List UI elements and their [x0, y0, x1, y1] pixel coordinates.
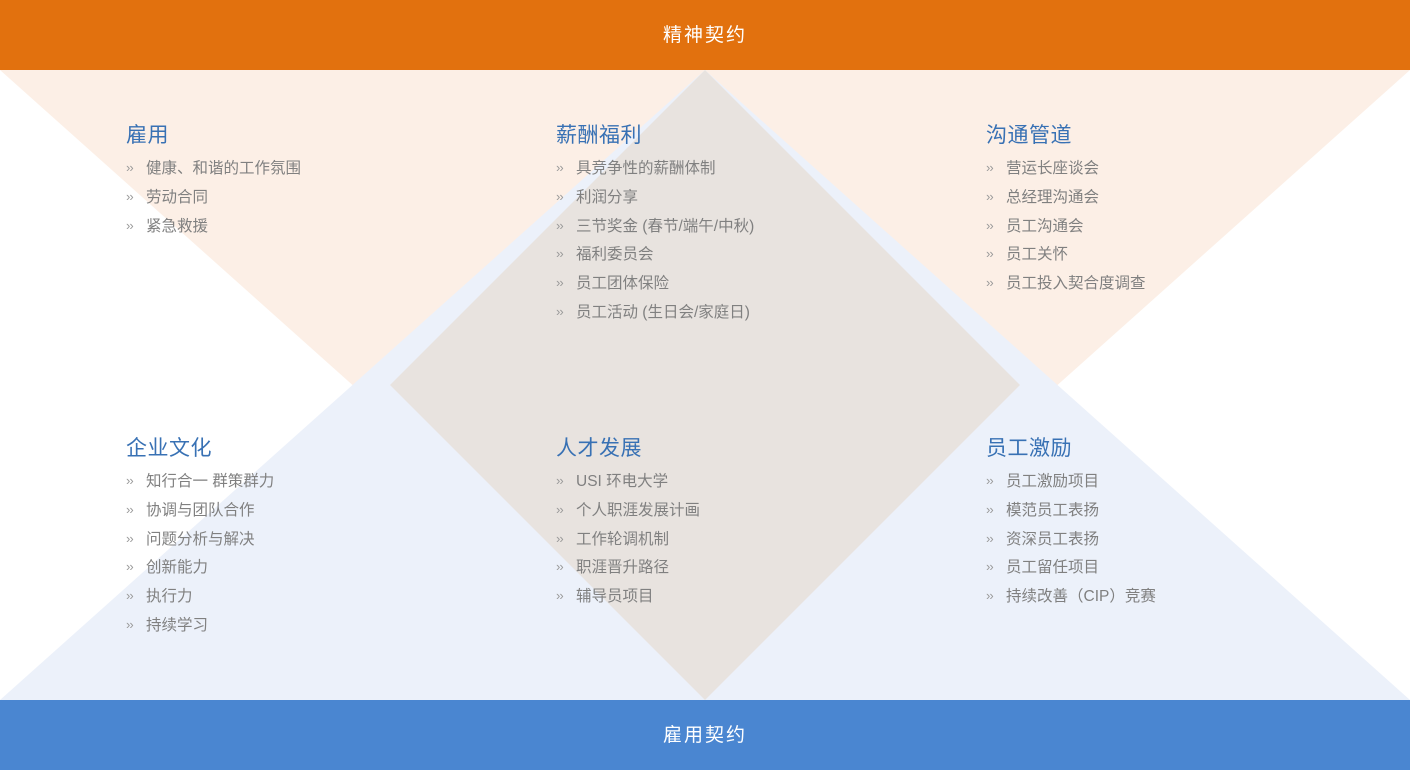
item-list-compensation-benefits: ›› 具竞争性的薪酬体制 ›› 利润分享 ›› 三节奖金 (春节/端午/中秋) …: [556, 160, 946, 322]
chevron-right-icon: ››: [556, 305, 576, 318]
list-item-label: 工作轮调机制: [576, 531, 669, 549]
list-item[interactable]: ›› 员工投入契合度调查: [986, 275, 1376, 293]
chevron-right-icon: ››: [556, 161, 576, 174]
chevron-right-icon: ››: [126, 589, 146, 602]
chevron-right-icon: ››: [986, 190, 1006, 203]
column-communication-channels: 沟通管道 ›› 营运长座谈会 ›› 总经理沟通会 ›› 员工沟通会 ›› 员工关…: [986, 125, 1376, 304]
chevron-right-icon: ››: [126, 474, 146, 487]
list-item-label: 具竞争性的薪酬体制: [576, 160, 716, 178]
list-item-label: 营运长座谈会: [1006, 160, 1099, 178]
chevron-right-icon: ››: [126, 219, 146, 232]
item-list-talent-development: ›› USI 环电大学 ›› 个人职涯发展计画 ›› 工作轮调机制 ›› 职涯晋…: [556, 473, 946, 606]
list-item[interactable]: ›› 具竞争性的薪酬体制: [556, 160, 946, 178]
chevron-right-icon: ››: [556, 190, 576, 203]
list-item-label: 知行合一 群策群力: [146, 473, 274, 491]
column-title-employee-motivation: 员工激励: [986, 438, 1376, 459]
chevron-right-icon: ››: [986, 247, 1006, 260]
column-talent-development: 人才发展 ›› USI 环电大学 ›› 个人职涯发展计画 ›› 工作轮调机制 ›…: [556, 438, 946, 617]
list-item[interactable]: ›› 员工活动 (生日会/家庭日): [556, 304, 946, 322]
chevron-right-icon: ››: [556, 276, 576, 289]
list-item-label: 资深员工表扬: [1006, 531, 1099, 549]
list-item-label: 员工留任项目: [1006, 559, 1099, 577]
chevron-right-icon: ››: [556, 474, 576, 487]
list-item[interactable]: ›› 问题分析与解决: [126, 531, 516, 549]
chevron-right-icon: ››: [556, 247, 576, 260]
chevron-right-icon: ››: [126, 560, 146, 573]
list-item-label: 员工激励项目: [1006, 473, 1099, 491]
item-list-employment: ›› 健康、和谐的工作氛围 ›› 劳动合同 ›› 紧急救援: [126, 160, 516, 235]
chevron-right-icon: ››: [986, 503, 1006, 516]
list-item[interactable]: ›› 个人职涯发展计画: [556, 502, 946, 520]
column-corporate-culture: 企业文化 ›› 知行合一 群策群力 ›› 协调与团队合作 ›› 问题分析与解决 …: [126, 438, 516, 646]
item-list-communication-channels: ›› 营运长座谈会 ›› 总经理沟通会 ›› 员工沟通会 ›› 员工关怀 ››: [986, 160, 1376, 293]
list-item[interactable]: ›› 辅导员项目: [556, 588, 946, 606]
column-employment: 雇用 ›› 健康、和谐的工作氛围 ›› 劳动合同 ›› 紧急救援: [126, 125, 516, 246]
list-item[interactable]: ›› 紧急救援: [126, 218, 516, 236]
chevron-right-icon: ››: [126, 532, 146, 545]
list-item[interactable]: ›› 员工关怀: [986, 246, 1376, 264]
list-item-label: 员工团体保险: [576, 275, 669, 293]
list-item[interactable]: ›› 工作轮调机制: [556, 531, 946, 549]
list-item-label: USI 环电大学: [576, 473, 668, 491]
list-item[interactable]: ›› 三节奖金 (春节/端午/中秋): [556, 218, 946, 236]
item-list-corporate-culture: ›› 知行合一 群策群力 ›› 协调与团队合作 ›› 问题分析与解决 ›› 创新…: [126, 473, 516, 635]
column-compensation-benefits: 薪酬福利 ›› 具竞争性的薪酬体制 ›› 利润分享 ›› 三节奖金 (春节/端午…: [556, 125, 946, 333]
list-item-label: 持续学习: [146, 617, 208, 635]
bottom-banner: 雇用契约: [0, 700, 1410, 770]
list-item-label: 健康、和谐的工作氛围: [146, 160, 301, 178]
list-item-label: 劳动合同: [146, 189, 208, 207]
top-banner: 精神契约: [0, 0, 1410, 70]
list-item-label: 个人职涯发展计画: [576, 502, 700, 520]
list-item[interactable]: ›› 劳动合同: [126, 189, 516, 207]
list-item[interactable]: ›› 持续改善（CIP）竞赛: [986, 588, 1376, 606]
chevron-right-icon: ››: [986, 161, 1006, 174]
chevron-right-icon: ››: [556, 589, 576, 602]
list-item-label: 职涯晋升路径: [576, 559, 669, 577]
content-area: 雇用 ›› 健康、和谐的工作氛围 ›› 劳动合同 ›› 紧急救援 薪酬福利: [0, 70, 1410, 700]
list-item[interactable]: ›› 模范员工表扬: [986, 502, 1376, 520]
list-item[interactable]: ›› 利润分享: [556, 189, 946, 207]
list-item-label: 辅导员项目: [576, 588, 654, 606]
chevron-right-icon: ››: [556, 219, 576, 232]
list-item[interactable]: ›› 营运长座谈会: [986, 160, 1376, 178]
list-item-label: 三节奖金 (春节/端午/中秋): [576, 218, 754, 236]
list-item-label: 员工活动 (生日会/家庭日): [576, 304, 750, 322]
list-item-label: 协调与团队合作: [146, 502, 255, 520]
chevron-right-icon: ››: [126, 618, 146, 631]
column-title-compensation-benefits: 薪酬福利: [556, 125, 946, 146]
item-list-employee-motivation: ›› 员工激励项目 ›› 模范员工表扬 ›› 资深员工表扬 ›› 员工留任项目 …: [986, 473, 1376, 606]
column-title-corporate-culture: 企业文化: [126, 438, 516, 459]
chevron-right-icon: ››: [986, 589, 1006, 602]
list-item[interactable]: ›› 执行力: [126, 588, 516, 606]
list-item[interactable]: ›› 创新能力: [126, 559, 516, 577]
column-employee-motivation: 员工激励 ›› 员工激励项目 ›› 模范员工表扬 ›› 资深员工表扬 ›› 员工…: [986, 438, 1376, 617]
chevron-right-icon: ››: [986, 219, 1006, 232]
chevron-right-icon: ››: [986, 474, 1006, 487]
list-item[interactable]: ›› 职涯晋升路径: [556, 559, 946, 577]
chevron-right-icon: ››: [126, 190, 146, 203]
list-item-label: 员工投入契合度调查: [1006, 275, 1146, 293]
list-item-label: 创新能力: [146, 559, 208, 577]
list-item-label: 模范员工表扬: [1006, 502, 1099, 520]
list-item-label: 紧急救援: [146, 218, 208, 236]
list-item[interactable]: ›› 员工留任项目: [986, 559, 1376, 577]
list-item-label: 问题分析与解决: [146, 531, 255, 549]
list-item[interactable]: ›› 员工沟通会: [986, 218, 1376, 236]
list-item-label: 福利委员会: [576, 246, 654, 264]
list-item[interactable]: ›› 员工激励项目: [986, 473, 1376, 491]
chevron-right-icon: ››: [126, 503, 146, 516]
chevron-right-icon: ››: [556, 560, 576, 573]
chevron-right-icon: ››: [986, 276, 1006, 289]
list-item[interactable]: ›› 资深员工表扬: [986, 531, 1376, 549]
column-title-employment: 雇用: [126, 125, 516, 146]
list-item[interactable]: ›› 福利委员会: [556, 246, 946, 264]
list-item[interactable]: ›› 协调与团队合作: [126, 502, 516, 520]
column-title-talent-development: 人才发展: [556, 438, 946, 459]
list-item-label: 总经理沟通会: [1006, 189, 1099, 207]
chevron-right-icon: ››: [556, 503, 576, 516]
list-item-label: 员工沟通会: [1006, 218, 1084, 236]
column-title-communication-channels: 沟通管道: [986, 125, 1376, 146]
list-item-label: 执行力: [146, 588, 193, 606]
chevron-right-icon: ››: [986, 560, 1006, 573]
list-item[interactable]: ›› 知行合一 群策群力: [126, 473, 516, 491]
list-item[interactable]: ›› 持续学习: [126, 617, 516, 635]
list-item[interactable]: ›› 员工团体保险: [556, 275, 946, 293]
bottom-banner-title: 雇用契约: [663, 726, 747, 745]
page-root: 精神契约 雇用 ›› 健康、和谐的工作氛围 ›› 劳动合同 ›› 紧急救援: [0, 0, 1410, 770]
list-item-label: 利润分享: [576, 189, 638, 207]
chevron-right-icon: ››: [556, 532, 576, 545]
list-item[interactable]: ›› 健康、和谐的工作氛围: [126, 160, 516, 178]
chevron-right-icon: ››: [126, 161, 146, 174]
chevron-right-icon: ››: [986, 532, 1006, 545]
list-item[interactable]: ›› 总经理沟通会: [986, 189, 1376, 207]
top-banner-title: 精神契约: [663, 26, 747, 45]
list-item-label: 持续改善（CIP）竞赛: [1006, 588, 1156, 606]
list-item-label: 员工关怀: [1006, 246, 1068, 264]
list-item[interactable]: ›› USI 环电大学: [556, 473, 946, 491]
